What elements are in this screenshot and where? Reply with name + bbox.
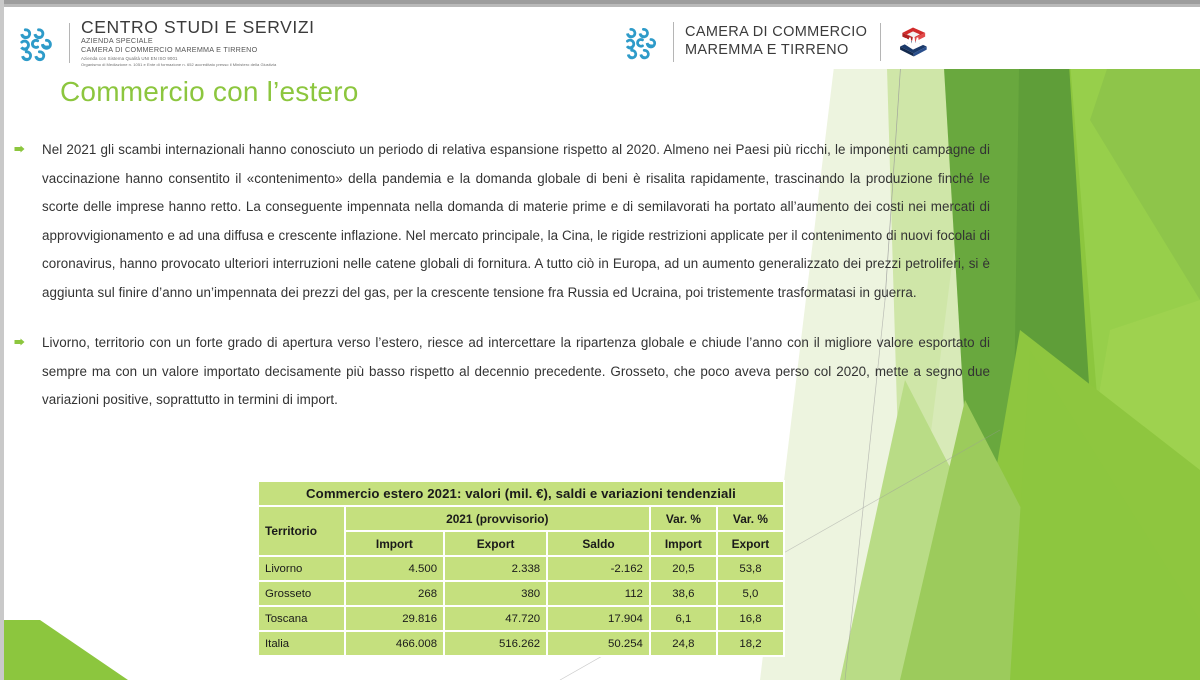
- cell-import: 268: [346, 582, 443, 605]
- column-header-export: Export: [445, 532, 546, 555]
- camera-commercio-line1: CAMERA DI COMMERCIO: [685, 24, 867, 42]
- cell-export: 2.338: [445, 557, 546, 580]
- table-row: Livorno 4.500 2.338 -2.162 20,5 53,8: [259, 557, 783, 580]
- column-header-var-import-line2: Import: [651, 532, 716, 555]
- window-left-rail: [0, 0, 4, 680]
- centro-studi-text-block: CENTRO STUDI E SERVIZI AZIENDA SPECIALE …: [81, 18, 315, 68]
- building-emblem-icon: [894, 22, 932, 62]
- cell-territorio: Livorno: [259, 557, 344, 580]
- table-row: Toscana 29.816 47.720 17.904 6,1 16,8: [259, 607, 783, 630]
- logo-centro-studi: CENTRO STUDI E SERVIZI AZIENDA SPECIALE …: [12, 18, 315, 68]
- cell-saldo: 112: [548, 582, 649, 605]
- foreign-trade-table: Commercio estero 2021: valori (mil. €), …: [257, 480, 785, 657]
- cell-var-export: 53,8: [718, 557, 783, 580]
- cell-saldo: 17.904: [548, 607, 649, 630]
- green-arrow-bullet-icon: [14, 145, 25, 153]
- column-header-var-export-line2: Export: [718, 532, 783, 555]
- cell-saldo: -2.162: [548, 557, 649, 580]
- cell-import: 466.008: [346, 632, 443, 655]
- cell-var-import: 24,8: [651, 632, 716, 655]
- paragraph-text: Livorno, territorio con un forte grado d…: [42, 329, 990, 415]
- table-row: Italia 466.008 516.262 50.254 24,8 18,2: [259, 632, 783, 655]
- cell-export: 380: [445, 582, 546, 605]
- column-header-var-import-line1: Var. %: [651, 507, 716, 530]
- window-top-bar: [0, 0, 1200, 7]
- table-header-row-1: Territorio 2021 (provvisorio) Var. % Var…: [259, 507, 783, 530]
- camera-commercio-line2: MAREMMA E TIRRENO: [685, 42, 867, 60]
- cell-var-import: 20,5: [651, 557, 716, 580]
- window-top-bar-inner: [0, 0, 1200, 4]
- cell-territorio: Toscana: [259, 607, 344, 630]
- column-header-territorio: Territorio: [259, 507, 344, 555]
- column-header-saldo: Saldo: [548, 532, 649, 555]
- centro-studi-spiral-logo-icon: [12, 21, 58, 65]
- cell-saldo: 50.254: [548, 632, 649, 655]
- column-header-var-export-line1: Var. %: [718, 507, 783, 530]
- centro-studi-sub2: CAMERA DI COMMERCIO MAREMMA E TIRRENO: [81, 46, 315, 55]
- logo-camera-commercio: CAMERA DI COMMERCIO MAREMMA E TIRRENO: [618, 21, 932, 63]
- cell-var-export: 16,8: [718, 607, 783, 630]
- cell-var-import: 38,6: [651, 582, 716, 605]
- camera-commercio-text-block: CAMERA DI COMMERCIO MAREMMA E TIRRENO: [685, 24, 867, 59]
- cell-export: 516.262: [445, 632, 546, 655]
- cell-territorio: Italia: [259, 632, 344, 655]
- table-row: Grosseto 268 380 112 38,6 5,0: [259, 582, 783, 605]
- slide-body: Nel 2021 gli scambi internazionali hanno…: [14, 136, 990, 429]
- column-group-header-2021: 2021 (provvisorio): [346, 507, 649, 530]
- slide: CENTRO STUDI E SERVIZI AZIENDA SPECIALE …: [0, 0, 1200, 680]
- column-header-import: Import: [346, 532, 443, 555]
- cell-var-export: 18,2: [718, 632, 783, 655]
- page-title: Commercio con l’estero: [60, 76, 359, 108]
- slide-header: CENTRO STUDI E SERVIZI AZIENDA SPECIALE …: [0, 7, 1200, 69]
- cell-export: 47.720: [445, 607, 546, 630]
- logo-divider: [673, 22, 674, 62]
- cell-import: 29.816: [346, 607, 443, 630]
- green-arrow-bullet-icon: [14, 338, 25, 346]
- foreign-trade-table-wrapper: Commercio estero 2021: valori (mil. €), …: [257, 480, 785, 657]
- camera-commercio-spiral-logo-icon: [618, 21, 662, 63]
- bullet-paragraph: Nel 2021 gli scambi internazionali hanno…: [14, 136, 990, 307]
- table-caption-row: Commercio estero 2021: valori (mil. €), …: [259, 482, 783, 505]
- logo-divider-2: [880, 23, 881, 61]
- centro-studi-title: CENTRO STUDI E SERVIZI: [81, 18, 315, 36]
- table-caption: Commercio estero 2021: valori (mil. €), …: [259, 482, 783, 505]
- bullet-paragraph: Livorno, territorio con un forte grado d…: [14, 329, 990, 415]
- cell-territorio: Grosseto: [259, 582, 344, 605]
- paragraph-text: Nel 2021 gli scambi internazionali hanno…: [42, 136, 990, 307]
- centro-studi-sub4: Organismo di Mediazione n. 1051 e Ente d…: [81, 62, 315, 67]
- logo-divider: [69, 23, 70, 63]
- cell-var-export: 5,0: [718, 582, 783, 605]
- cell-import: 4.500: [346, 557, 443, 580]
- cell-var-import: 6,1: [651, 607, 716, 630]
